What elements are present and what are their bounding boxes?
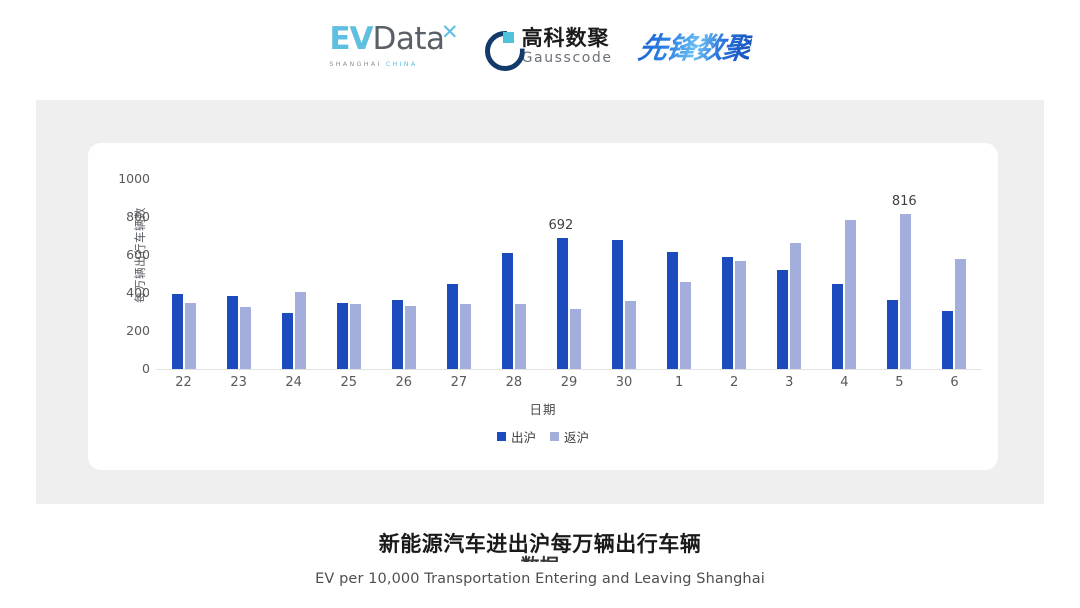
caption-cn: 新能源汽车进出沪每万辆出行车辆 xyxy=(0,528,1080,558)
bar-return xyxy=(625,301,636,369)
x-tick-label: 29 xyxy=(542,375,596,390)
bar-return xyxy=(955,259,966,369)
bar-group xyxy=(266,179,321,369)
xianfeng-cn-text: 先锋数聚 xyxy=(635,25,754,67)
bar-return xyxy=(680,282,691,369)
bar-out xyxy=(447,284,458,370)
evdata-tagline: SHANGHAI CHINA xyxy=(329,60,417,68)
bar-out xyxy=(172,294,183,369)
data-label: 816 xyxy=(892,194,917,209)
bar-chart: 每万辆出行车辆数 10008006004002000 2223242526272… xyxy=(88,143,998,470)
x-tick-label: 25 xyxy=(322,375,376,390)
bar-out xyxy=(337,303,348,369)
bar-group xyxy=(376,179,431,369)
bar-group xyxy=(597,179,652,369)
evdata-wordmark: EVData xyxy=(329,24,444,55)
bar-return xyxy=(405,306,416,369)
legend-swatch-icon xyxy=(550,432,559,441)
x-tick-label: 6 xyxy=(927,375,981,390)
x-tick-label: 23 xyxy=(212,375,266,390)
gausscode-cn-text: 高科数聚 xyxy=(522,28,613,49)
bar-out xyxy=(832,284,843,369)
x-axis-line xyxy=(156,369,982,370)
caption-en: EV per 10,000 Transportation Entering an… xyxy=(313,571,767,587)
bar-group xyxy=(431,179,486,369)
x-tick-label: 24 xyxy=(267,375,321,390)
bar-out xyxy=(942,311,953,369)
evdata-data-text: Data xyxy=(373,24,445,55)
x-tick-label: 28 xyxy=(487,375,541,390)
bar-out xyxy=(227,296,238,369)
bar-out xyxy=(502,253,513,369)
bar-return xyxy=(240,307,251,369)
bar-group xyxy=(541,179,596,369)
y-tick-label: 400 xyxy=(102,285,150,300)
x-tick-label: 1 xyxy=(652,375,706,390)
data-label: 692 xyxy=(549,218,574,233)
caption-block: 新能源汽车进出沪每万辆出行车辆 数据 EV per 10,000 Transpo… xyxy=(0,528,1080,588)
bar-return xyxy=(185,303,196,369)
y-tick-label: 600 xyxy=(102,247,150,262)
gausscode-g-icon xyxy=(485,31,515,61)
bar-group xyxy=(817,179,872,369)
bar-out xyxy=(777,270,788,369)
bar-group xyxy=(486,179,541,369)
bar-group xyxy=(652,179,707,369)
legend-item[interactable]: 出沪 xyxy=(497,427,536,446)
gausscode-logo: 高科数聚 Gausscode xyxy=(485,28,613,65)
bar-group xyxy=(211,179,266,369)
x-tick-label: 4 xyxy=(817,375,871,390)
bar-out xyxy=(722,257,733,369)
x-mark-icon: ✕ xyxy=(441,22,459,43)
legend-swatch-icon xyxy=(497,432,506,441)
bar-group xyxy=(707,179,762,369)
bar-return xyxy=(900,214,911,369)
bar-out xyxy=(392,300,403,369)
x-tick-label: 22 xyxy=(157,375,211,390)
y-tick-label: 200 xyxy=(102,323,150,338)
bar-return xyxy=(295,292,306,369)
bar-return xyxy=(460,304,471,369)
bar-out xyxy=(887,300,898,369)
x-tick-label: 30 xyxy=(597,375,651,390)
bar-group xyxy=(321,179,376,369)
bar-return xyxy=(570,309,581,369)
bar-out xyxy=(667,252,678,369)
chart-legend: 出沪返沪 xyxy=(88,427,998,446)
logo-bar: EVData ✕ SHANGHAI CHINA 高科数聚 Gausscode 先… xyxy=(0,0,1080,92)
plot-area xyxy=(156,179,982,369)
bar-out xyxy=(612,240,623,369)
bar-return xyxy=(845,220,856,369)
x-tick-label: 3 xyxy=(762,375,816,390)
x-tick-label: 5 xyxy=(872,375,926,390)
bar-group xyxy=(927,179,982,369)
bar-return xyxy=(735,261,746,369)
legend-label: 出沪 xyxy=(511,427,536,446)
bar-out xyxy=(282,313,293,369)
x-axis-title: 日期 xyxy=(88,399,998,418)
bar-out xyxy=(557,238,568,369)
bar-return xyxy=(790,243,801,369)
chart-card: 每万辆出行车辆数 10008006004002000 2223242526272… xyxy=(88,143,998,470)
bar-group xyxy=(156,179,211,369)
gausscode-en-text: Gausscode xyxy=(522,51,613,65)
y-tick-label: 1000 xyxy=(102,171,150,186)
x-tick-label: 27 xyxy=(432,375,486,390)
bar-return xyxy=(515,304,526,369)
x-tick-label: 26 xyxy=(377,375,431,390)
bar-return xyxy=(350,304,361,369)
bar-group xyxy=(762,179,817,369)
xianfeng-logo: 先锋数聚 xyxy=(639,25,751,67)
evdata-country-text: CHINA xyxy=(386,60,418,68)
y-tick-label: 800 xyxy=(102,209,150,224)
evdata-ev-text: EV xyxy=(329,24,372,55)
x-tick-label: 2 xyxy=(707,375,761,390)
y-tick-label: 0 xyxy=(102,361,150,376)
legend-item[interactable]: 返沪 xyxy=(550,427,589,446)
evdata-logo: EVData ✕ SHANGHAI CHINA xyxy=(329,24,458,68)
legend-label: 返沪 xyxy=(564,427,589,446)
evdata-city-text: SHANGHAI xyxy=(329,60,381,68)
